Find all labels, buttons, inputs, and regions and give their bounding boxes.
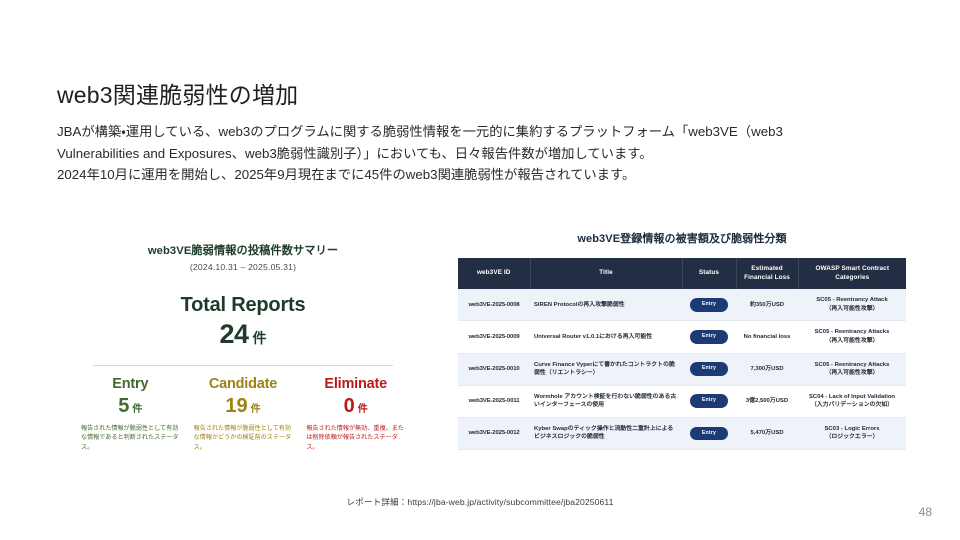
table-header: web3VE ID Title Status Estimated Financi… <box>458 258 906 289</box>
row-category-line2: （入力バリデーションの欠如） <box>802 401 902 410</box>
status-badge: Entry <box>690 298 728 312</box>
total-reports-unit: 件 <box>253 330 267 346</box>
body-line-3: 2024年10月に運用を開始し、2025年9月現在までに45件のweb3関連脆弱… <box>57 164 887 186</box>
row-category: SC04 - Lack of Input Validation （入力バリデーシ… <box>798 385 906 417</box>
row-category: SC05 - Reentrancy Attack （再入可能性攻撃） <box>798 289 906 321</box>
stat-eliminate-number: 0 <box>344 395 355 417</box>
stat-eliminate-name: Eliminate <box>304 376 407 392</box>
column-header-title: Title <box>530 258 682 289</box>
column-header-category: OWASP Smart Contract Categories <box>798 258 906 289</box>
column-header-loss: Estimated Financial Loss <box>736 258 798 289</box>
stat-candidate-count: 19件 <box>192 395 295 418</box>
stat-candidate-description: 報告された情報が脆弱性として有効な情報かどうかの検証前のステータス。 <box>192 424 295 452</box>
slide-body-text: JBAが構築・運用している、web3のプログラムに関する脆弱性情報を一元的に集約… <box>57 121 887 186</box>
status-badge: Entry <box>690 362 728 376</box>
page-title: web3関連脆弱性の増加 <box>57 76 298 110</box>
row-loss: 5,470万USD <box>736 417 798 449</box>
column-header-status-line1: Status <box>685 269 734 278</box>
stat-candidate-name: Candidate <box>192 376 295 392</box>
row-category: SC05 - Reentrancy Attacks （再入可能性攻撃） <box>798 321 906 353</box>
footer-report-link: レポート詳細：https://jba-web.jp/activity/subco… <box>0 496 960 508</box>
row-status: Entry <box>682 385 736 417</box>
stat-entry-count: 5件 <box>79 395 182 418</box>
column-header-status: Status <box>682 258 736 289</box>
row-title: Universal Router v1.0.1における再入可能性 <box>530 321 682 353</box>
column-header-category-line1: OWASP Smart Contract <box>801 265 905 274</box>
row-title: SIREN Protocolの再入攻撃脆弱性 <box>530 289 682 321</box>
stat-eliminate-description: 報告された情報が無効、重複、または削除依頼が報告されたステータス。 <box>304 424 407 452</box>
table-body: web3VE-2025-0008 SIREN Protocolの再入攻撃脆弱性 … <box>458 289 906 449</box>
stat-entry-name: Entry <box>79 376 182 392</box>
row-category-line1: SC03 - Logic Errors <box>802 425 902 434</box>
column-header-id-line1: web3VE ID <box>460 269 528 278</box>
body-line-1: JBAが構築・運用している、web3のプログラムに関する脆弱性情報を一元的に集約… <box>57 121 887 143</box>
row-category-line2: （ロジックエラー） <box>802 433 902 442</box>
stat-candidate-unit: 件 <box>251 404 261 415</box>
summary-title: web3VE脆弱情報の投稿件数サマリー <box>68 242 418 258</box>
column-header-category-line2: Categories <box>801 274 905 283</box>
status-breakdown: Entry 5件 報告された情報が脆弱性として有効な情報であると判断されたステー… <box>68 376 418 452</box>
row-id: web3VE-2025-0008 <box>458 289 530 321</box>
row-category-line1: SC04 - Lack of Input Validation <box>802 393 902 402</box>
row-category-line2: （再入可能性攻撃） <box>802 337 902 346</box>
row-category-line2: （再入可能性攻撃） <box>802 369 902 378</box>
vulnerability-table: web3VE ID Title Status Estimated Financi… <box>458 258 906 450</box>
table-title: web3VE登録情報の被害額及び脆弱性分類 <box>452 230 912 246</box>
status-badge: Entry <box>690 427 728 441</box>
total-reports-number: 24 <box>219 319 248 349</box>
row-id: web3VE-2025-0011 <box>458 385 530 417</box>
row-category: SC05 - Reentrancy Attacks （再入可能性攻撃） <box>798 353 906 385</box>
row-loss: No financial loss <box>736 321 798 353</box>
stat-candidate: Candidate 19件 報告された情報が脆弱性として有効な情報かどうかの検証… <box>187 376 300 452</box>
table-row: web3VE-2025-0012 Kyber Swapのティック操作と流動性二重… <box>458 417 906 449</box>
column-header-id: web3VE ID <box>458 258 530 289</box>
table-header-row: web3VE ID Title Status Estimated Financi… <box>458 258 906 289</box>
stat-eliminate-count: 0件 <box>304 395 407 418</box>
row-id: web3VE-2025-0010 <box>458 353 530 385</box>
row-category: SC03 - Logic Errors （ロジックエラー） <box>798 417 906 449</box>
table-row: web3VE-2025-0010 Curve Finance Vyperにて書か… <box>458 353 906 385</box>
row-title: Wormhole アカウント検証を行わない脆弱性のある古いインターフェースの使用 <box>530 385 682 417</box>
status-badge: Entry <box>690 330 728 344</box>
row-category-line2: （再入可能性攻撃） <box>802 305 902 314</box>
table-row: web3VE-2025-0011 Wormhole アカウント検証を行わない脆弱… <box>458 385 906 417</box>
table-row: web3VE-2025-0009 Universal Router v1.0.1… <box>458 321 906 353</box>
table-row: web3VE-2025-0008 SIREN Protocolの再入攻撃脆弱性 … <box>458 289 906 321</box>
vulnerability-table-card: web3VE登録情報の被害額及び脆弱性分類 web3VE ID Title St… <box>452 230 912 450</box>
row-status: Entry <box>682 321 736 353</box>
column-header-loss-line2: Financial Loss <box>739 274 796 283</box>
row-title: Curve Finance Vyperにて書かれたコントラクトの脆弱性（リエント… <box>530 353 682 385</box>
summary-divider <box>93 365 393 366</box>
total-reports-value: 24件 <box>68 319 418 350</box>
column-header-title-line1: Title <box>533 269 680 278</box>
status-badge: Entry <box>690 394 728 408</box>
figures-area: web3VE脆弱情報の投稿件数サマリー (2024.10.31 – 2025.0… <box>0 222 960 472</box>
row-status: Entry <box>682 417 736 449</box>
row-loss: 3億2,500万USD <box>736 385 798 417</box>
stat-entry: Entry 5件 報告された情報が脆弱性として有効な情報であると判断されたステー… <box>74 376 187 452</box>
row-loss: 7,300万USD <box>736 353 798 385</box>
body-line-2: Vulnerabilities and Exposures、web3脆弱性識別子… <box>57 143 887 165</box>
row-category-line1: SC05 - Reentrancy Attacks <box>802 328 902 337</box>
row-title: Kyber Swapのティック操作と流動性二重計上によるビジネスロジックの脆弱性 <box>530 417 682 449</box>
page-number: 48 <box>919 505 932 519</box>
row-category-line1: SC05 - Reentrancy Attacks <box>802 361 902 370</box>
stat-entry-number: 5 <box>118 395 129 417</box>
row-status: Entry <box>682 289 736 321</box>
stat-entry-description: 報告された情報が脆弱性として有効な情報であると判断されたステータス。 <box>79 424 182 452</box>
summary-card: web3VE脆弱情報の投稿件数サマリー (2024.10.31 – 2025.0… <box>68 230 418 458</box>
row-category-line1: SC05 - Reentrancy Attack <box>802 296 902 305</box>
row-loss: 約350万USD <box>736 289 798 321</box>
summary-date-range: (2024.10.31 – 2025.05.31) <box>68 262 418 272</box>
column-header-loss-line1: Estimated <box>739 265 796 274</box>
row-id: web3VE-2025-0012 <box>458 417 530 449</box>
row-status: Entry <box>682 353 736 385</box>
stat-eliminate: Eliminate 0件 報告された情報が無効、重複、または削除依頼が報告された… <box>299 376 412 452</box>
stat-entry-unit: 件 <box>132 404 142 415</box>
stat-eliminate-unit: 件 <box>358 404 368 415</box>
row-id: web3VE-2025-0009 <box>458 321 530 353</box>
stat-candidate-number: 19 <box>225 395 247 417</box>
total-reports-label: Total Reports <box>68 294 418 317</box>
